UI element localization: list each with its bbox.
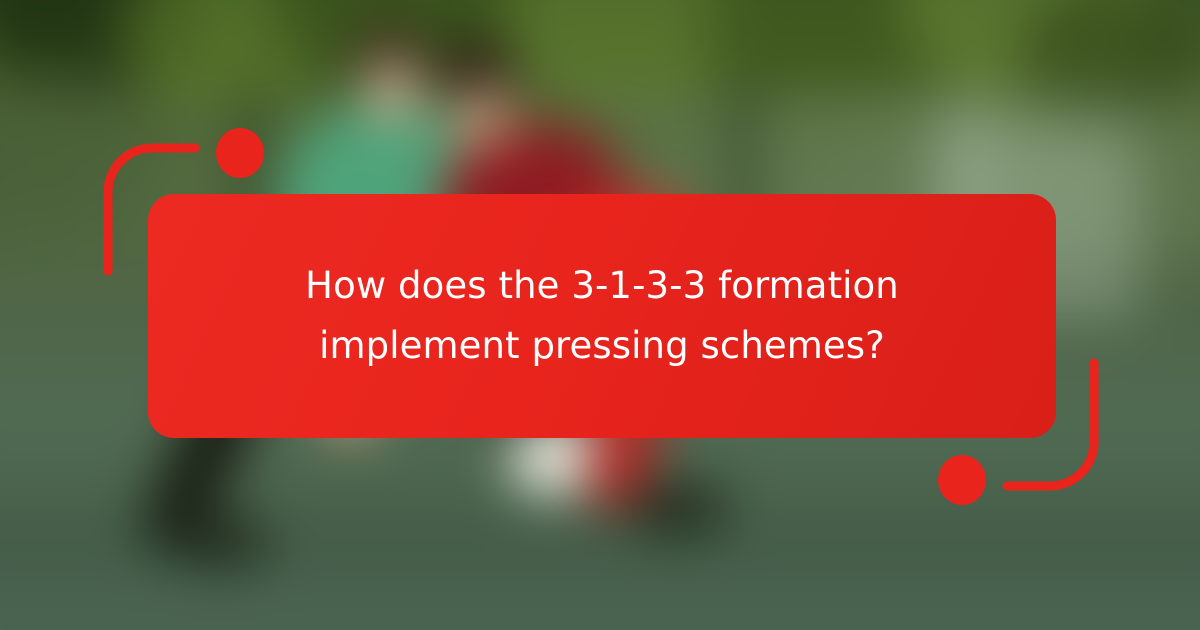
headline-card: How does the 3-1-3-3 formation implement… <box>148 194 1056 438</box>
dot-bottom-right-icon <box>938 455 986 505</box>
page-title: How does the 3-1-3-3 formation implement… <box>204 256 1000 376</box>
player-green-face <box>364 60 422 120</box>
dot-top-left-icon <box>216 128 264 178</box>
share-card-canvas: How does the 3-1-3-3 formation implement… <box>0 0 1200 630</box>
player-red-face <box>452 85 510 147</box>
